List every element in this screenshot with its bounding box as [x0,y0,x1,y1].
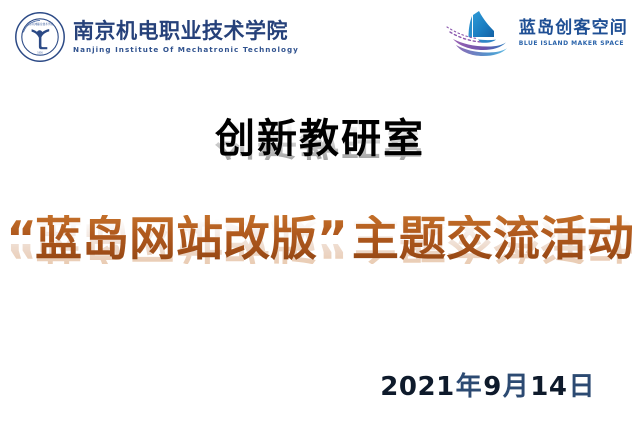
sailboat-icon [441,6,515,58]
title-reflect-stack: 创新教研室 创新教研室 [215,118,425,160]
school-name-en: Nanjing Institute Of Mechatronic Technol… [73,45,299,56]
maker-space-logo-text: 蓝岛创客空间 BLUE ISLAND MAKER SPACE [519,19,628,48]
subtitle-reflect-stack: “蓝岛网站改版”主题交流活动 “蓝岛网站改版”主题交流活动 [6,215,634,264]
title-line-wrapper: 创新教研室 创新教研室 [0,118,640,160]
school-name-cn: 南京机电职业技术学院 [73,20,299,42]
maker-space-name-en: BLUE ISLAND MAKER SPACE [519,40,628,48]
date-month: 9 [483,372,502,402]
school-logo-text: 南京机电职业技术学院 Nanjing Institute Of Mechatro… [73,20,299,56]
subtitle-rest-text: 主题交流活动 [352,212,634,267]
svg-text:1956: 1956 [37,52,43,55]
subtitle-line-wrapper: “蓝岛网站改版”主题交流活动 “蓝岛网站改版”主题交流活动 [0,215,640,264]
subtitle-quote-open: “ [6,212,35,267]
date-month-unit: 月 [502,372,531,402]
subtitle-quoted-text: 蓝岛网站改版 [35,212,317,267]
headline-area: 创新教研室 创新教研室 “蓝岛网站改版”主题交流活动 “蓝岛网站改版”主题交流活… [0,118,640,160]
date-year: 2021 [380,372,454,402]
page-subtitle: “蓝岛网站改版”主题交流活动 [6,215,634,264]
svg-text:南京机电职业技术学院: 南京机电职业技术学院 [27,22,53,26]
event-date: 2021年9月14日 [380,366,596,403]
date-year-unit: 年 [455,372,484,402]
school-logo: 南京机电职业技术学院 1956 南京机电职业技术学院 Nanjing Insti… [14,11,299,63]
presentation-slide: 南京机电职业技术学院 1956 南京机电职业技术学院 Nanjing Insti… [0,0,640,433]
maker-space-logo: 蓝岛创客空间 BLUE ISLAND MAKER SPACE [441,6,628,58]
maker-space-name-cn: 蓝岛创客空间 [519,19,628,38]
page-title: 创新教研室 [215,118,425,160]
date-day-unit: 日 [567,372,596,402]
date-day: 14 [530,372,567,402]
school-crest-icon: 南京机电职业技术学院 1956 [14,11,66,63]
subtitle-quote-close: ” [317,212,346,267]
